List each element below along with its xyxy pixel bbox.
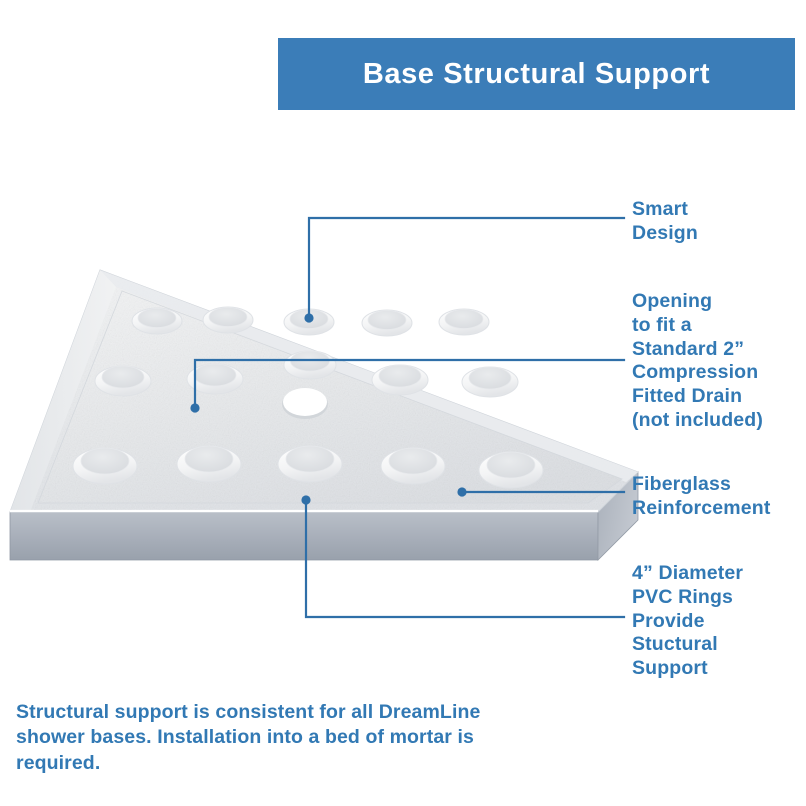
- header-banner: Base Structural Support: [278, 38, 795, 110]
- callout-line: Design: [632, 222, 698, 246]
- pvc-ring: [362, 310, 412, 336]
- callout-line: Provide: [632, 610, 743, 634]
- pvc-ring: [177, 446, 241, 482]
- pvc-ring: [95, 366, 151, 396]
- callout-line: Smart: [632, 198, 698, 222]
- callout-line: Support: [632, 657, 743, 681]
- callout-line: 4” Diameter: [632, 562, 743, 586]
- leader-line-smart-design: [304, 218, 624, 323]
- drain-opening: [282, 388, 328, 419]
- pvc-ring: [203, 307, 253, 333]
- callout-line: Fitted Drain: [632, 385, 763, 409]
- callout-line: PVC Rings: [632, 586, 743, 610]
- pvc-ring: [284, 351, 336, 379]
- callout-label-pvc-rings: 4” Diameter PVC Rings Provide Stuctural …: [632, 562, 743, 681]
- bottom-note-text: Structural support is consistent for all…: [16, 700, 546, 776]
- pvc-ring: [372, 365, 428, 395]
- callout-label-fiberglass: Fiberglass Reinforcement: [632, 473, 770, 521]
- callout-label-opening-drain: Opening to fit a Standard 2” Compression…: [632, 290, 763, 433]
- page-title: Base Structural Support: [363, 58, 710, 91]
- callout-line: Fiberglass: [632, 473, 770, 497]
- pvc-ring: [381, 448, 445, 484]
- pvc-ring: [439, 309, 489, 335]
- callout-line: Opening: [632, 290, 763, 314]
- callout-label-smart-design: Smart Design: [632, 198, 698, 246]
- callout-line: Stuctural: [632, 633, 743, 657]
- callout-line: (not included): [632, 409, 763, 433]
- callout-line: to fit a: [632, 314, 763, 338]
- pvc-ring: [462, 367, 518, 397]
- base-front-wall: [10, 512, 598, 560]
- infographic-page: Base Structural Support Smart Design Ope…: [0, 0, 806, 806]
- callout-line: Compression: [632, 361, 763, 385]
- pvc-ring: [132, 308, 182, 334]
- pvc-ring: [479, 452, 543, 488]
- pvc-ring: [73, 448, 137, 484]
- pvc-ring: [278, 446, 342, 482]
- callout-line: Standard 2”: [632, 338, 763, 362]
- callout-line: Reinforcement: [632, 497, 770, 521]
